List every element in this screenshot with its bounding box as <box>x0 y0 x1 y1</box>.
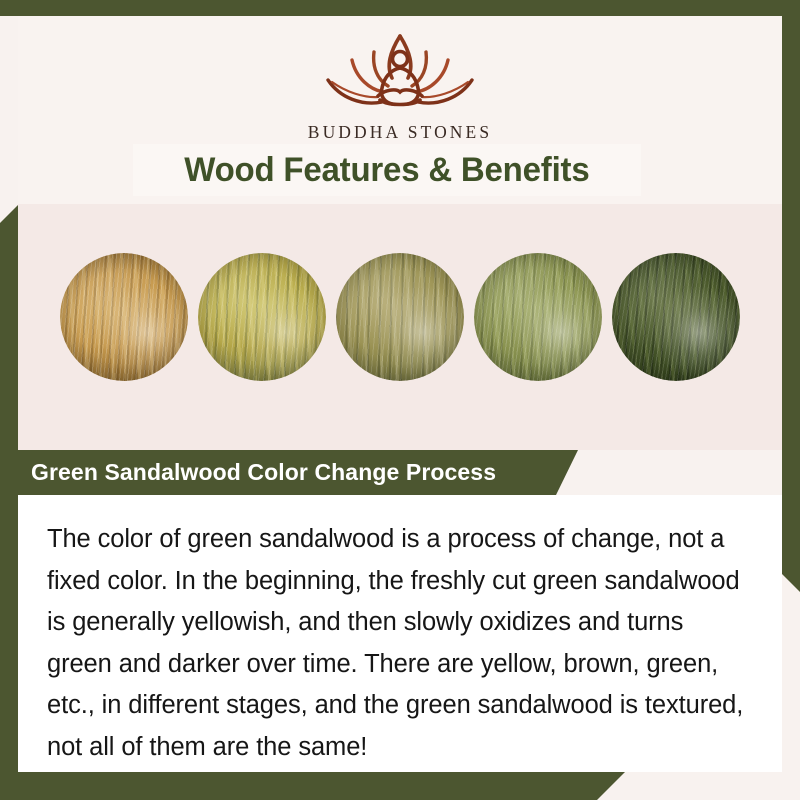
bead-stage-4-moss-green <box>474 253 602 381</box>
bead-row <box>18 253 782 381</box>
frame-left-bar <box>0 205 18 800</box>
page-title-band: Wood Features & Benefits <box>133 144 641 196</box>
bead-stage-2-yellow-olive <box>198 253 326 381</box>
frame-right-bar <box>782 0 800 592</box>
section-caption-banner: Green Sandalwood Color Change Process <box>18 450 578 495</box>
frame-bottom-bar <box>0 772 625 800</box>
bead-specular-shading <box>474 253 602 381</box>
description-card: The color of green sandalwood is a proce… <box>18 495 782 772</box>
lotus-meditation-figure-icon <box>312 26 488 118</box>
brand-logo: BUDDHA STONES <box>18 26 782 143</box>
section-caption-label: Green Sandalwood Color Change Process <box>18 459 496 486</box>
bead-specular-shading <box>198 253 326 381</box>
bead-stage-3-olive-khaki <box>336 253 464 381</box>
bead-stage-1-yellow-brown <box>60 253 188 381</box>
bead-specular-shading <box>336 253 464 381</box>
bead-showcase-strip <box>18 204 782 450</box>
description-paragraph: The color of green sandalwood is a proce… <box>47 519 747 768</box>
bead-specular-shading <box>612 253 740 381</box>
bead-specular-shading <box>60 253 188 381</box>
bead-stage-5-deep-green <box>612 253 740 381</box>
brand-name: BUDDHA STONES <box>308 122 492 143</box>
page-title: Wood Features & Benefits <box>184 151 589 190</box>
frame-top-bar <box>0 0 800 16</box>
infographic-poster: BUDDHA STONES Wood Features & Benefits <box>0 0 800 800</box>
